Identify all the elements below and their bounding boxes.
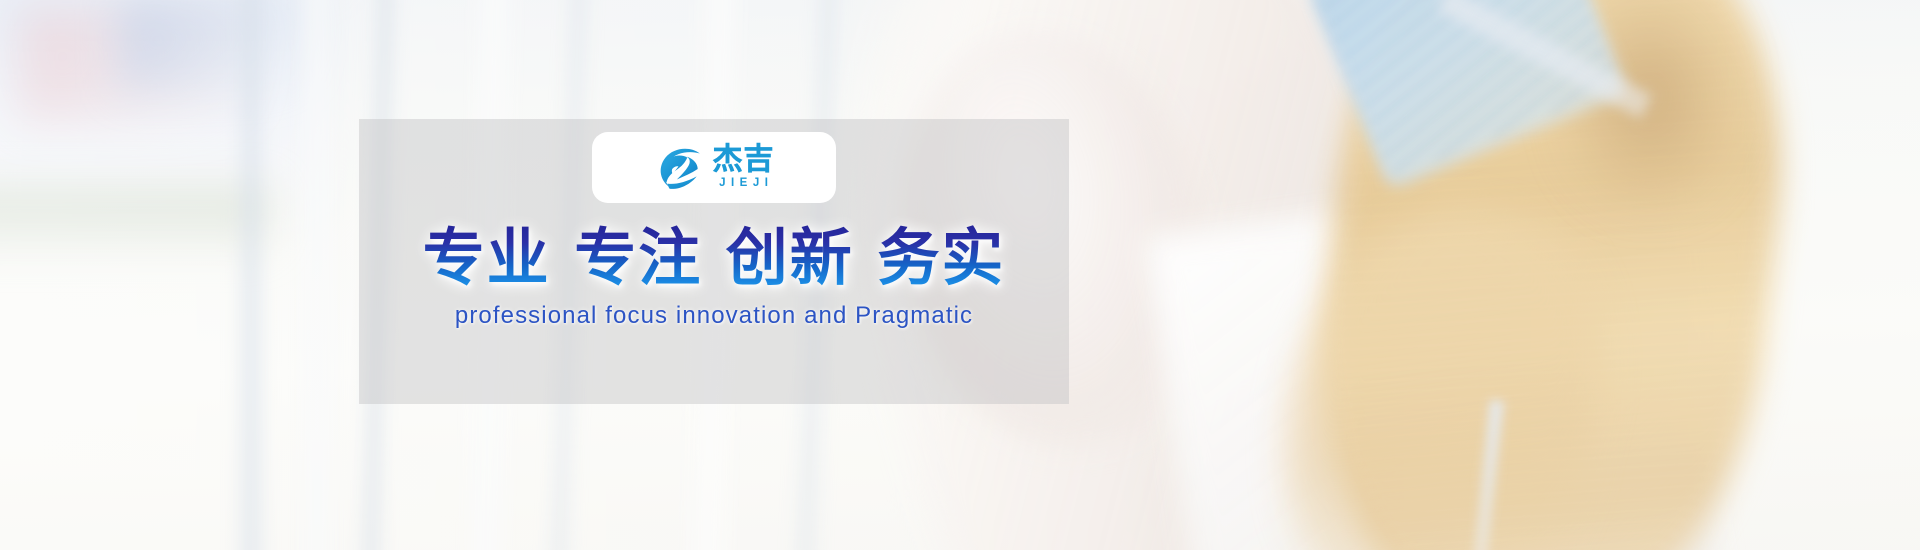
content-panel: 杰吉 JIEJI 专业 专注 创新 务实 professional focus … (359, 119, 1069, 404)
brand-name-en: JIEJI (714, 178, 774, 190)
brand-logo-plaque[interactable]: 杰吉 JIEJI (592, 132, 836, 203)
brand-wordmark: 杰吉 JIEJI (713, 145, 775, 190)
brand-name-cn: 杰吉 (713, 145, 775, 175)
headline-slogan-cn: 专业 专注 创新 务实 (423, 225, 1006, 291)
hero-banner: 杰吉 JIEJI 专业 专注 创新 务实 professional focus … (0, 0, 1920, 550)
jieji-swirl-logo-mark (654, 142, 706, 194)
headline-slogan-en: professional focus innovation and Pragma… (455, 302, 973, 330)
